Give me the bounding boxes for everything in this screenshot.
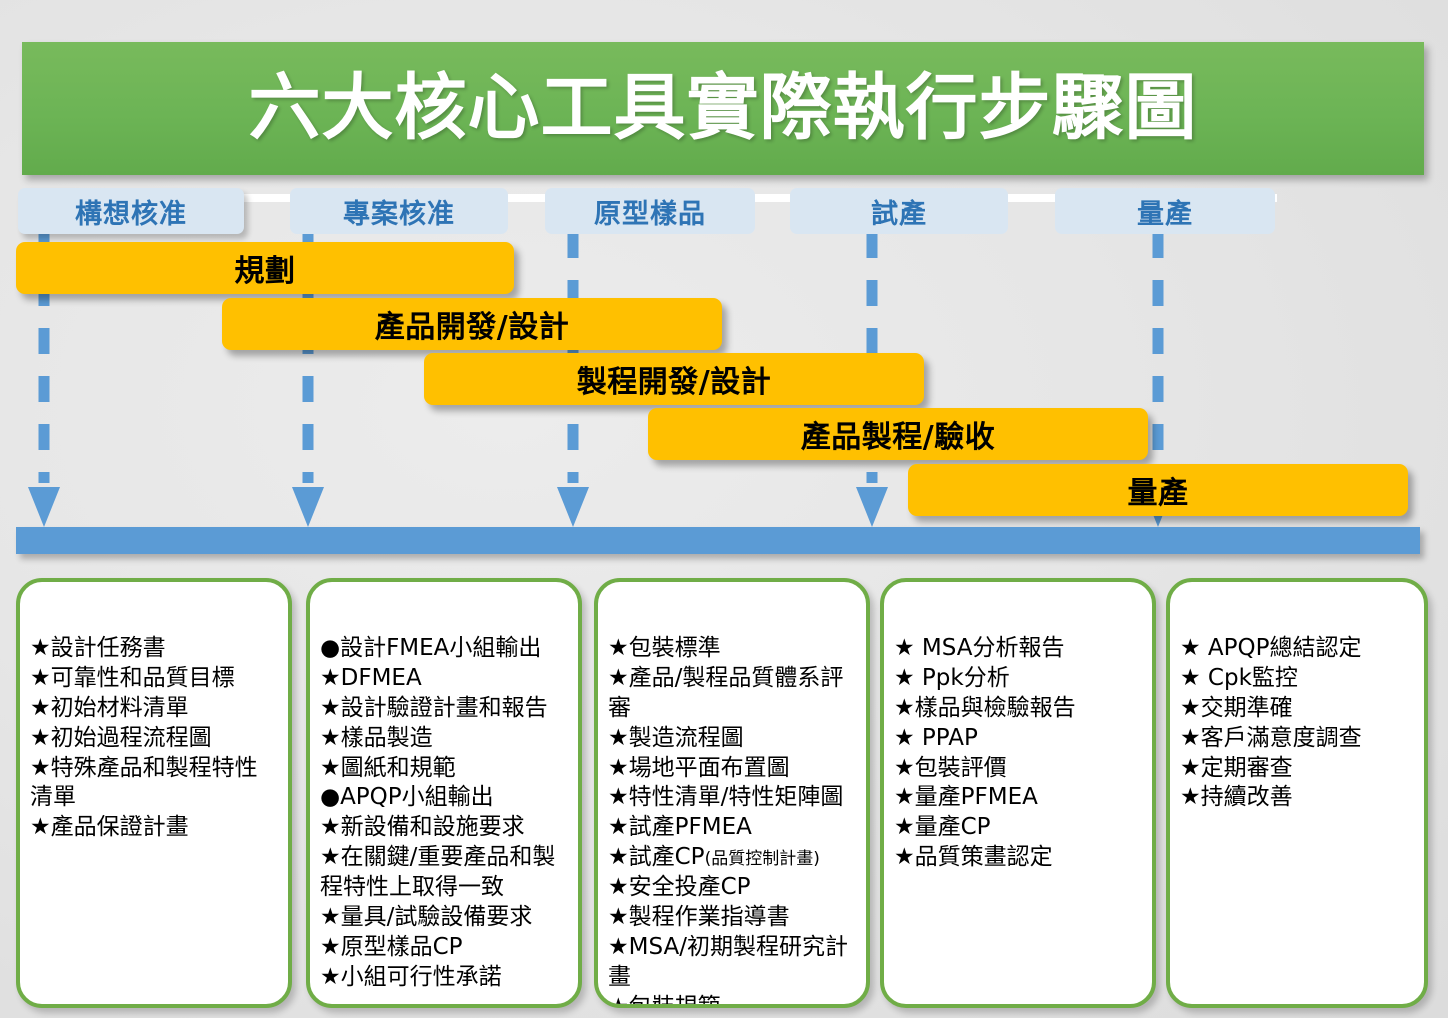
deliverable-item: ★試產PFMEA xyxy=(608,813,858,843)
deliverable-item-text: 包裝評價 xyxy=(915,755,1007,781)
star-bullet-icon: ★ xyxy=(1180,695,1201,721)
star-bullet-icon: ★ xyxy=(894,784,915,810)
deliverable-list: ★ MSA分析報告★ Ppk分析★樣品與檢驗報告★ PPAP★包裝評價★量產PF… xyxy=(884,582,1152,881)
milestone-label: 量產 xyxy=(1137,192,1193,231)
deliverable-item-text: 場地平面布置圖 xyxy=(629,755,790,781)
star-bullet-icon: ★ xyxy=(30,755,51,781)
star-bullet-icon: ★ xyxy=(608,755,629,781)
deliverable-item: ★ APQP總結認定 xyxy=(1180,634,1416,664)
title-banner: 六大核心工具實際執行步驟圖 xyxy=(22,42,1424,175)
star-bullet-icon: ★ xyxy=(608,904,629,930)
star-bullet-icon: ★ xyxy=(30,635,51,661)
deliverable-item-text: Ppk分析 xyxy=(915,665,1010,691)
deliverable-item-text: 包裝標準 xyxy=(629,635,721,661)
star-bullet-icon: ★ xyxy=(894,635,915,661)
deliverable-item: ★特殊產品和製程特性清單 xyxy=(30,754,280,814)
deliverable-item: ★可靠性和品質目標 xyxy=(30,664,280,694)
deliverable-item-text: 初始過程流程圖 xyxy=(51,725,212,751)
deliverable-item: ★產品保證計畫 xyxy=(30,813,280,843)
star-bullet-icon: ★ xyxy=(320,844,341,870)
star-bullet-icon: ★ xyxy=(30,814,51,840)
phase-bar-5: 量產 xyxy=(908,464,1408,516)
deliverable-item: ★包裝規範 xyxy=(608,993,858,1008)
deliverable-item: ★設計任務書 xyxy=(30,634,280,664)
deliverable-item-text: APQP總結認定 xyxy=(1201,635,1362,661)
deliverable-item-text: 製造流程圖 xyxy=(629,725,744,751)
star-bullet-icon: ★ xyxy=(894,725,915,751)
deliverable-card-3: ★包裝標準★產品/製程品質體系評審★製造流程圖★場地平面布置圖★特性清單/特性矩… xyxy=(594,578,870,1008)
deliverable-item: ★設計驗證計畫和報告 xyxy=(320,694,570,724)
deliverable-item: ★安全投產CP xyxy=(608,873,858,903)
star-bullet-icon: ★ xyxy=(608,934,629,960)
deliverable-item: ★新設備和設施要求 xyxy=(320,813,570,843)
deliverable-item: ★製造流程圖 xyxy=(608,724,858,754)
deliverable-item: ★樣品製造 xyxy=(320,724,570,754)
deliverable-item: ★小組可行性承諾 xyxy=(320,963,570,993)
phase-bar-2: 產品開發/設計 xyxy=(222,298,722,350)
milestone-4: 試產 xyxy=(790,188,1008,234)
star-bullet-icon: ★ xyxy=(320,964,341,990)
deliverable-item: ★量具/試驗設備要求 xyxy=(320,903,570,933)
deliverable-item-text: 客戶滿意度調查 xyxy=(1201,725,1362,751)
deliverable-item-text: 試產PFMEA xyxy=(629,814,752,840)
deliverable-card-5: ★ APQP總結認定★ Cpk監控★交期準確★客戶滿意度調查★定期審查★持續改善 xyxy=(1166,578,1428,1008)
deliverable-item: ★產品/製程品質體系評審 xyxy=(608,664,858,724)
deliverable-item-text: 樣品製造 xyxy=(341,725,433,751)
deliverable-item-text: 定期審查 xyxy=(1201,755,1293,781)
deliverable-item: ★品質策畫認定 xyxy=(894,843,1144,873)
phase-bar-label: 量產 xyxy=(1128,468,1189,512)
star-bullet-icon: ★ xyxy=(894,665,915,691)
deliverable-item-text: 設計FMEA小組輸出 xyxy=(340,635,541,661)
connector-arrowhead xyxy=(28,487,60,527)
deliverable-item-text: Cpk監控 xyxy=(1201,665,1298,691)
star-bullet-icon: ★ xyxy=(30,665,51,691)
deliverable-item: ★ Cpk監控 xyxy=(1180,664,1416,694)
star-bullet-icon: ★ xyxy=(894,814,915,840)
deliverable-item: ★製程作業指導書 xyxy=(608,903,858,933)
phase-bar-3: 製程開發/設計 xyxy=(424,353,924,405)
deliverable-item: ★試產CP(品質控制計畫) xyxy=(608,843,858,873)
star-bullet-icon: ★ xyxy=(894,695,915,721)
deliverable-item-text: 初始材料清單 xyxy=(51,695,189,721)
deliverable-item: ★原型樣品CP xyxy=(320,933,570,963)
deliverable-item: ★持續改善 xyxy=(1180,783,1416,813)
connector-arrowhead xyxy=(292,487,324,527)
deliverable-item-text: 在關鍵/重要產品和製程特性上取得一致 xyxy=(320,844,555,900)
deliverable-item: ★包裝標準 xyxy=(608,634,858,664)
milestone-3: 原型樣品 xyxy=(545,188,755,234)
page-title: 六大核心工具實際執行步驟圖 xyxy=(22,71,1424,143)
star-bullet-icon: ★ xyxy=(1180,665,1201,691)
deliverable-item-text: 製程作業指導書 xyxy=(629,904,790,930)
star-bullet-icon: ★ xyxy=(1180,784,1201,810)
deliverable-item-text: 量具/試驗設備要求 xyxy=(341,904,533,930)
deliverable-item-text: 安全投產CP xyxy=(629,874,751,900)
deliverable-item: ★DFMEA xyxy=(320,664,570,694)
deliverable-item: ★ Ppk分析 xyxy=(894,664,1144,694)
deliverable-item-text: 新設備和設施要求 xyxy=(341,814,525,840)
filled-circle-bullet-icon: ● xyxy=(320,784,340,810)
deliverable-item-text: 設計任務書 xyxy=(51,635,166,661)
deliverable-item-text: 特性清單/特性矩陣圖 xyxy=(629,784,844,810)
connector-arrowhead xyxy=(856,487,888,527)
deliverable-item: ★圖紙和規範 xyxy=(320,754,570,784)
deliverable-item-text: 設計驗證計畫和報告 xyxy=(341,695,548,721)
deliverable-list: ★ APQP總結認定★ Cpk監控★交期準確★客戶滿意度調查★定期審查★持續改善 xyxy=(1170,582,1424,821)
deliverable-item-text: 量產CP xyxy=(915,814,991,840)
deliverable-card-2: ●設計FMEA小組輸出★DFMEA★設計驗證計畫和報告★樣品製造★圖紙和規範●A… xyxy=(306,578,582,1008)
deliverable-item: ★量產PFMEA xyxy=(894,783,1144,813)
star-bullet-icon: ★ xyxy=(320,725,341,751)
phase-bar-1: 規劃 xyxy=(16,242,514,294)
deliverable-item: ★客戶滿意度調查 xyxy=(1180,724,1416,754)
star-bullet-icon: ★ xyxy=(608,994,629,1008)
milestone-1: 構想核准 xyxy=(18,188,244,234)
deliverable-item: ★初始過程流程圖 xyxy=(30,724,280,754)
star-bullet-icon: ★ xyxy=(1180,755,1201,781)
phase-bar-label: 製程開發/設計 xyxy=(577,357,771,401)
star-bullet-icon: ★ xyxy=(608,814,629,840)
milestone-label: 試產 xyxy=(871,192,927,231)
deliverable-list: ★包裝標準★產品/製程品質體系評審★製造流程圖★場地平面布置圖★特性清單/特性矩… xyxy=(598,582,866,1008)
deliverable-item: ★場地平面布置圖 xyxy=(608,754,858,784)
star-bullet-icon: ★ xyxy=(608,665,629,691)
star-bullet-icon: ★ xyxy=(320,814,341,840)
deliverable-item-text: 小組可行性承諾 xyxy=(341,964,502,990)
deliverable-list: ●設計FMEA小組輸出★DFMEA★設計驗證計畫和報告★樣品製造★圖紙和規範●A… xyxy=(310,582,578,1001)
star-bullet-icon: ★ xyxy=(1180,635,1201,661)
star-bullet-icon: ★ xyxy=(320,904,341,930)
deliverable-item: ★樣品與檢驗報告 xyxy=(894,694,1144,724)
phase-bar-label: 產品開發/設計 xyxy=(375,302,569,346)
deliverable-item-text: 圖紙和規範 xyxy=(341,755,456,781)
deliverable-item: ★ PPAP xyxy=(894,724,1144,754)
deliverable-item: ●APQP小組輸出 xyxy=(320,783,570,813)
star-bullet-icon: ★ xyxy=(320,665,341,691)
star-bullet-icon: ★ xyxy=(608,844,629,870)
deliverable-card-1: ★設計任務書★可靠性和品質目標★初始材料清單★初始過程流程圖★特殊產品和製程特性… xyxy=(16,578,292,1008)
star-bullet-icon: ★ xyxy=(30,695,51,721)
star-bullet-icon: ★ xyxy=(320,755,341,781)
deliverable-item-text: 持續改善 xyxy=(1201,784,1293,810)
deliverable-item-text: 產品保證計畫 xyxy=(51,814,189,840)
milestone-label: 構想核准 xyxy=(75,192,187,231)
deliverable-item: ★初始材料清單 xyxy=(30,694,280,724)
deliverable-item-text: 產品/製程品質體系評審 xyxy=(608,665,843,721)
deliverable-item-text: 試產CP xyxy=(629,844,705,870)
deliverable-card-4: ★ MSA分析報告★ Ppk分析★樣品與檢驗報告★ PPAP★包裝評價★量產PF… xyxy=(880,578,1156,1008)
deliverable-item-text: PPAP xyxy=(915,725,978,751)
deliverable-item-text: 包裝規範 xyxy=(629,994,721,1008)
deliverable-item-text: 原型樣品CP xyxy=(341,934,463,960)
deliverable-item-text: 量產PFMEA xyxy=(915,784,1038,810)
deliverable-item: ●設計FMEA小組輸出 xyxy=(320,634,570,664)
deliverable-item: ★在關鍵/重要產品和製程特性上取得一致 xyxy=(320,843,570,903)
star-bullet-icon: ★ xyxy=(608,784,629,810)
milestone-2: 專案核准 xyxy=(290,188,508,234)
deliverable-list: ★設計任務書★可靠性和品質目標★初始材料清單★初始過程流程圖★特殊產品和製程特性… xyxy=(20,582,288,851)
star-bullet-icon: ★ xyxy=(894,755,915,781)
star-bullet-icon: ★ xyxy=(608,725,629,751)
milestone-label: 原型樣品 xyxy=(594,192,706,231)
phase-bar-label: 產品製程/驗收 xyxy=(801,412,995,456)
deliverable-item: ★包裝評價 xyxy=(894,754,1144,784)
deliverable-item-text: 品質策畫認定 xyxy=(915,844,1053,870)
star-bullet-icon: ★ xyxy=(320,695,341,721)
deliverable-item: ★特性清單/特性矩陣圖 xyxy=(608,783,858,813)
deliverable-item: ★ MSA分析報告 xyxy=(894,634,1144,664)
star-bullet-icon: ★ xyxy=(30,725,51,751)
connector-arrowhead xyxy=(557,487,589,527)
summary-timeline-bar xyxy=(16,527,1420,554)
deliverable-item-note: (品質控制計畫) xyxy=(705,849,820,869)
slide-canvas: 六大核心工具實際執行步驟圖 構想核准專案核准原型樣品試產量產 規劃產品開發/設計… xyxy=(0,0,1448,1018)
deliverable-item: ★定期審查 xyxy=(1180,754,1416,784)
star-bullet-icon: ★ xyxy=(1180,725,1201,751)
filled-circle-bullet-icon: ● xyxy=(320,635,340,661)
deliverable-item: ★交期準確 xyxy=(1180,694,1416,724)
deliverable-item-text: MSA/初期製程研究計畫 xyxy=(608,934,848,990)
star-bullet-icon: ★ xyxy=(320,934,341,960)
deliverable-item: ★MSA/初期製程研究計畫 xyxy=(608,933,858,993)
deliverable-item-text: APQP小組輸出 xyxy=(340,784,494,810)
milestone-label: 專案核准 xyxy=(343,192,455,231)
deliverable-item-text: 特殊產品和製程特性清單 xyxy=(30,755,258,811)
milestone-5: 量產 xyxy=(1055,188,1275,234)
star-bullet-icon: ★ xyxy=(608,874,629,900)
star-bullet-icon: ★ xyxy=(894,844,915,870)
deliverable-item-text: 樣品與檢驗報告 xyxy=(915,695,1076,721)
phase-bar-4: 產品製程/驗收 xyxy=(648,408,1148,460)
star-bullet-icon: ★ xyxy=(608,635,629,661)
phase-bar-label: 規劃 xyxy=(235,246,296,290)
deliverable-item: ★量產CP xyxy=(894,813,1144,843)
deliverable-item-text: 可靠性和品質目標 xyxy=(51,665,235,691)
deliverable-item-text: DFMEA xyxy=(341,665,422,691)
deliverable-item-text: MSA分析報告 xyxy=(915,635,1065,661)
deliverable-item-text: 交期準確 xyxy=(1201,695,1293,721)
